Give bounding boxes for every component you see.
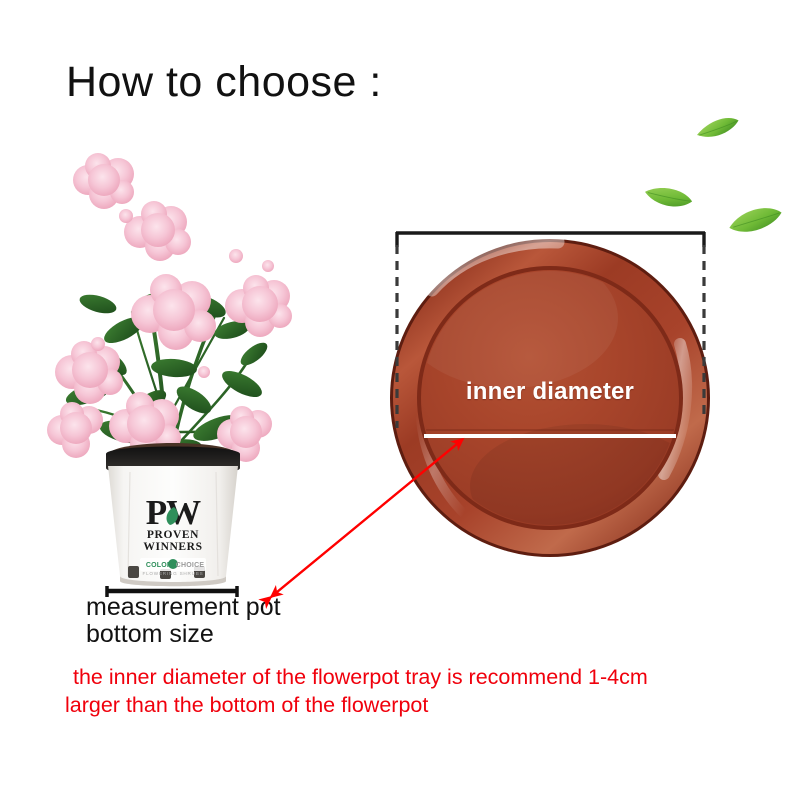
pot-badge-subtitle: FLOWERING SHRUBS <box>142 571 203 576</box>
leaf-icon-2 <box>643 183 694 211</box>
recommendation-note-line-1: the inner diameter of the flowerpot tray… <box>65 663 725 691</box>
recommendation-note: the inner diameter of the flowerpot tray… <box>65 663 725 719</box>
measurement-caption-line-2: bottom size <box>86 621 346 648</box>
leaf-icon-3 <box>727 205 784 235</box>
pot-badge: COLOR CHOICE FLOWERING SHRUBS <box>140 558 206 576</box>
pot-brand-line-2: WINNERS <box>143 541 202 553</box>
floating-leaves-decoration <box>640 100 800 270</box>
pot-badge-right: CHOICE <box>176 562 205 569</box>
pot-brand-line-1: PROVEN <box>147 529 199 541</box>
callout-arrow <box>255 425 480 610</box>
leaf-icon-1 <box>695 113 741 143</box>
recommendation-note-line-2: larger than the bottom of the flowerpot <box>65 691 725 719</box>
page-title: How to choose : <box>66 57 382 107</box>
